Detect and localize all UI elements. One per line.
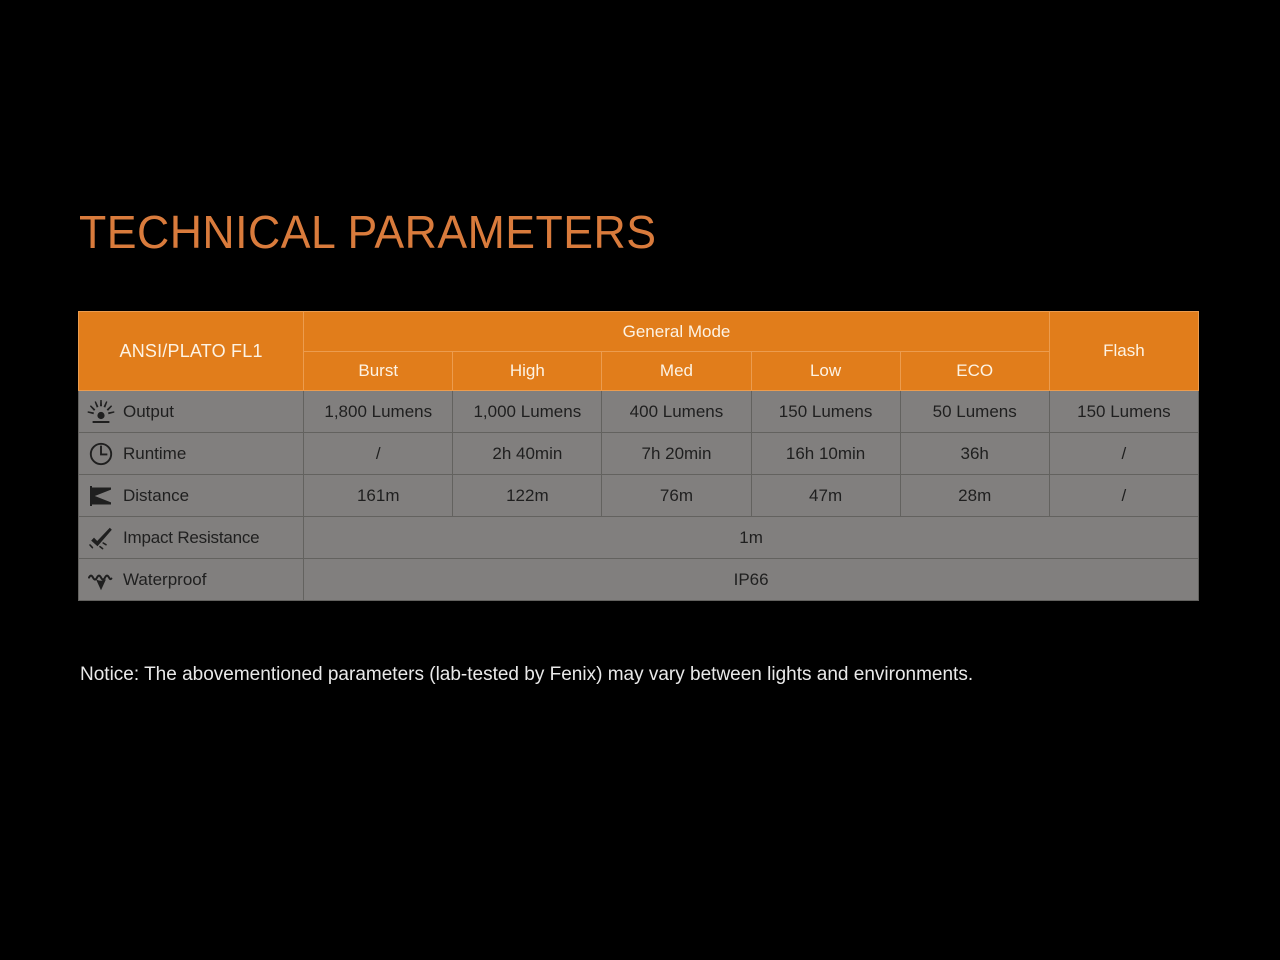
waterproof-icon — [87, 567, 115, 593]
cell-runtime-eco: 36h — [900, 433, 1049, 475]
cell-output-high: 1,000 Lumens — [453, 391, 602, 433]
row-label-distance: Distance — [79, 475, 304, 517]
cell-distance-flash: / — [1049, 475, 1198, 517]
table-row-runtime: Runtime / 2h 40min 7h 20min 16h 10min 36… — [79, 433, 1199, 475]
cell-output-low: 150 Lumens — [751, 391, 900, 433]
cell-runtime-low: 16h 10min — [751, 433, 900, 475]
table-row-output: Output 1,800 Lumens 1,000 Lumens 400 Lum… — [79, 391, 1199, 433]
header-mode-burst: Burst — [304, 352, 453, 391]
row-label-text: Impact Resistance — [123, 528, 259, 548]
cell-distance-burst: 161m — [304, 475, 453, 517]
table-row-impact-resistance: Impact Resistance 1m — [79, 517, 1199, 559]
sunburst-icon — [87, 399, 115, 425]
cell-runtime-high: 2h 40min — [453, 433, 602, 475]
cell-runtime-flash: / — [1049, 433, 1198, 475]
cell-impact-resistance-all: 1m — [304, 517, 1199, 559]
cell-runtime-med: 7h 20min — [602, 433, 751, 475]
cell-output-burst: 1,800 Lumens — [304, 391, 453, 433]
cell-output-med: 400 Lumens — [602, 391, 751, 433]
technical-parameters-table: ANSI/PLATO FL1 General Mode Flash Burst … — [78, 311, 1199, 601]
row-label-waterproof: Waterproof — [79, 559, 304, 601]
clock-icon — [87, 441, 115, 467]
cell-runtime-burst: / — [304, 433, 453, 475]
cell-output-eco: 50 Lumens — [900, 391, 1049, 433]
row-label-text: Waterproof — [123, 570, 206, 590]
cell-distance-high: 122m — [453, 475, 602, 517]
cell-distance-eco: 28m — [900, 475, 1049, 517]
notice-text: Notice: The abovementioned parameters (l… — [80, 664, 973, 686]
row-label-text: Distance — [123, 486, 189, 506]
header-mode-low: Low — [751, 352, 900, 391]
row-label-text: Runtime — [123, 444, 186, 464]
header-ansi-plato-fl1: ANSI/PLATO FL1 — [79, 312, 304, 391]
page-title: TECHNICAL PARAMETERS — [79, 203, 656, 261]
header-mode-high: High — [453, 352, 602, 391]
header-flash: Flash — [1049, 312, 1198, 391]
cell-distance-low: 47m — [751, 475, 900, 517]
header-mode-med: Med — [602, 352, 751, 391]
row-label-output: Output — [79, 391, 304, 433]
row-label-text: Output — [123, 402, 174, 422]
row-label-impact-resistance: Impact Resistance — [79, 517, 304, 559]
cell-output-flash: 150 Lumens — [1049, 391, 1198, 433]
beam-distance-icon — [87, 483, 115, 509]
header-mode-eco: ECO — [900, 352, 1049, 391]
header-general-mode: General Mode — [304, 312, 1050, 352]
cell-waterproof-all: IP66 — [304, 559, 1199, 601]
row-label-runtime: Runtime — [79, 433, 304, 475]
header-row-group: ANSI/PLATO FL1 General Mode Flash — [79, 312, 1199, 352]
cell-distance-med: 76m — [602, 475, 751, 517]
table-body: Output 1,800 Lumens 1,000 Lumens 400 Lum… — [79, 391, 1199, 601]
table-header: ANSI/PLATO FL1 General Mode Flash Burst … — [79, 312, 1199, 391]
table-row-waterproof: Waterproof IP66 — [79, 559, 1199, 601]
table-row-distance: Distance 161m 122m 76m 47m 28m / — [79, 475, 1199, 517]
impact-drop-icon — [87, 525, 115, 551]
